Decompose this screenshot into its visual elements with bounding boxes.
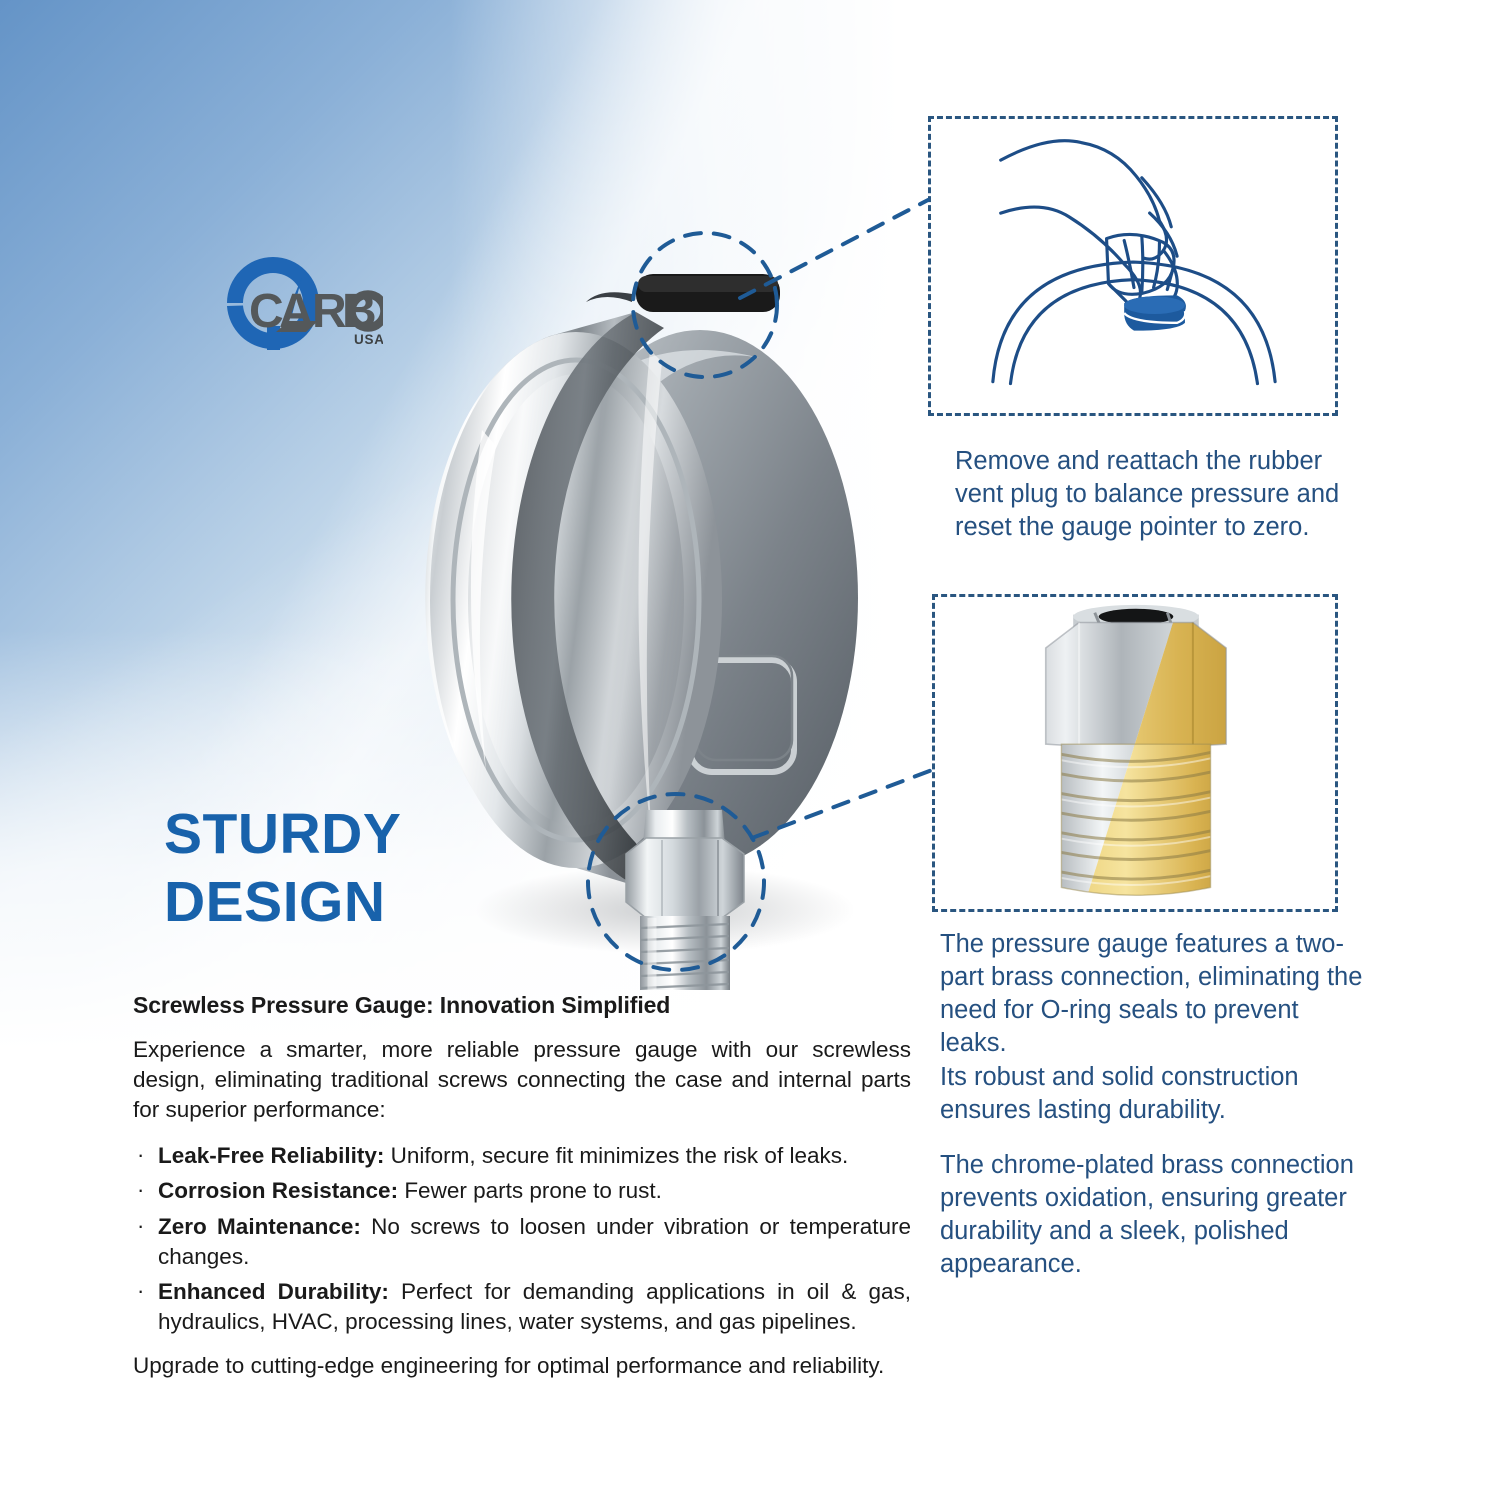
carbo-usa-logo: C A R B USA bbox=[168, 238, 383, 368]
svg-text:A: A bbox=[279, 285, 314, 338]
two-part-brass-connection-image bbox=[935, 597, 1335, 909]
bullet-marker: · bbox=[137, 1140, 144, 1169]
bullet-marker: · bbox=[137, 1175, 144, 1204]
left-outro-paragraph: Upgrade to cutting-edge engineering for … bbox=[133, 1351, 911, 1381]
list-item: · Leak-Free Reliability: Uniform, secure… bbox=[133, 1141, 911, 1171]
callout-box-brass-connection bbox=[932, 594, 1338, 912]
infographic-page: C A R B USA bbox=[0, 0, 1500, 1500]
bullet-term: Zero Maintenance: bbox=[158, 1214, 361, 1239]
hand-removing-vent-plug-icon bbox=[931, 119, 1335, 413]
list-item: · Enhanced Durability: Perfect for deman… bbox=[133, 1277, 911, 1337]
bullet-text: Fewer parts prone to rust. bbox=[398, 1178, 662, 1203]
brass-paragraph-1: The pressure gauge features a two-part b… bbox=[940, 928, 1370, 1061]
callout-box-vent-plug bbox=[928, 116, 1338, 416]
bullet-term: Corrosion Resistance: bbox=[158, 1178, 398, 1203]
svg-text:USA: USA bbox=[354, 332, 383, 347]
feature-bullet-list: · Leak-Free Reliability: Uniform, secure… bbox=[133, 1141, 911, 1337]
list-item: · Corrosion Resistance: Fewer parts pron… bbox=[133, 1176, 911, 1206]
brass-paragraph-3: The chrome-plated brass connection preve… bbox=[940, 1149, 1370, 1282]
left-subtitle: Screwless Pressure Gauge: Innovation Sim… bbox=[133, 990, 911, 1021]
left-description-block: Screwless Pressure Gauge: Innovation Sim… bbox=[133, 990, 911, 1381]
bullet-marker: · bbox=[137, 1276, 144, 1305]
brass-paragraph-2: Its robust and solid construction ensure… bbox=[940, 1061, 1370, 1127]
headline-line-2: DESIGN bbox=[164, 868, 584, 936]
page-title: STURDY DESIGN bbox=[164, 800, 584, 937]
bullet-marker: · bbox=[137, 1211, 144, 1240]
left-intro-paragraph: Experience a smarter, more reliable pres… bbox=[133, 1035, 911, 1125]
list-item: · Zero Maintenance: No screws to loosen … bbox=[133, 1212, 911, 1272]
brass-connection-caption: The pressure gauge features a two-part b… bbox=[940, 928, 1370, 1281]
bullet-term: Leak-Free Reliability: bbox=[158, 1143, 384, 1168]
bullet-text: Uniform, secure fit minimizes the risk o… bbox=[384, 1143, 848, 1168]
headline-line-1: STURDY bbox=[164, 800, 584, 868]
bullet-term: Enhanced Durability: bbox=[158, 1279, 389, 1304]
vent-plug-caption: Remove and reattach the rubber vent plug… bbox=[955, 445, 1365, 544]
